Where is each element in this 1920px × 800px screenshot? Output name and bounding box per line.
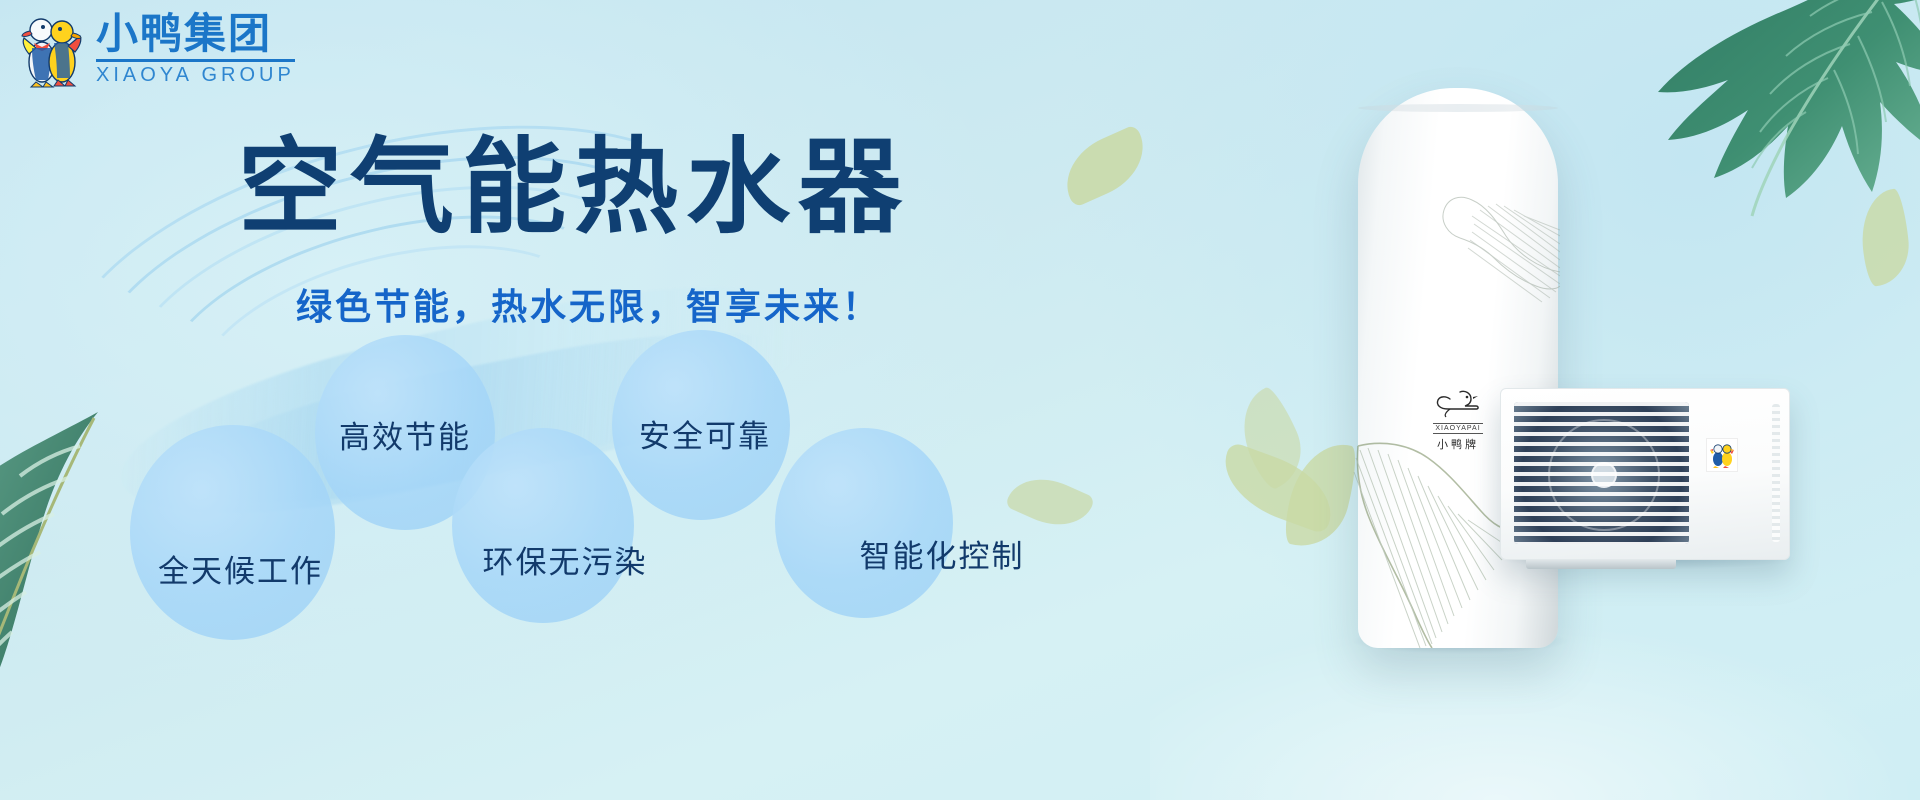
feature-label: 智能化控制: [860, 531, 1025, 576]
monstera-leaf-icon: [1610, 0, 1920, 260]
brand-name-cn: 小鸭集团: [96, 13, 295, 55]
page-title: 空气能热水器: [238, 132, 910, 242]
feature-label: 高效节能: [339, 412, 471, 457]
side-vent: [1772, 404, 1780, 542]
outdoor-unit: [1500, 388, 1790, 560]
outdoor-unit-base: [1526, 560, 1676, 569]
tank-floral-pattern-top: [1410, 180, 1560, 340]
small-leaf-icon: [1857, 188, 1913, 287]
page-subtitle: 绿色节能，热水无限，智享未来！: [296, 278, 881, 330]
tank-logo-en: XIAOYAPAI: [1433, 423, 1482, 434]
promo-banner: 小鸭集团 XIAOYA GROUP 空气能热水器 绿色节能，热水无限，智享未来！…: [0, 0, 1920, 800]
tank-top-seam: [1358, 104, 1558, 112]
feature-label: 全天候工作: [158, 546, 323, 591]
feature-bubble-safe: 安全可靠: [612, 330, 790, 520]
feature-bubble-smart: 智能化控制: [775, 428, 953, 618]
brand-name-en: XIAOYA GROUP: [96, 65, 295, 85]
fan-grille: [1514, 402, 1689, 544]
brand-logo[interactable]: 小鸭集团 XIAOYA GROUP: [16, 10, 295, 88]
logo-divider: [96, 59, 295, 62]
feature-label: 安全可靠: [639, 411, 771, 456]
duck-mascot-badge-icon: [1706, 438, 1738, 472]
small-leaf-icon: [1005, 466, 1096, 539]
tank-logo-cn: 小鸭牌: [1437, 436, 1479, 452]
duck-mascot-pair-icon: [16, 10, 86, 88]
feature-bubble-all-weather: 全天候工作: [130, 425, 335, 640]
small-leaf-icon: [1212, 441, 1344, 535]
duck-line-art-icon: [1432, 388, 1484, 422]
small-leaf-icon: [1280, 435, 1363, 556]
small-leaf-icon: [1228, 384, 1315, 493]
feature-bubble-eco: 环保无污染: [452, 428, 634, 623]
small-leaf-icon: [1053, 124, 1156, 208]
tank-brand-logo: XIAOYAPAI 小鸭牌: [1432, 388, 1484, 452]
feature-label: 环保无污染: [483, 537, 648, 582]
